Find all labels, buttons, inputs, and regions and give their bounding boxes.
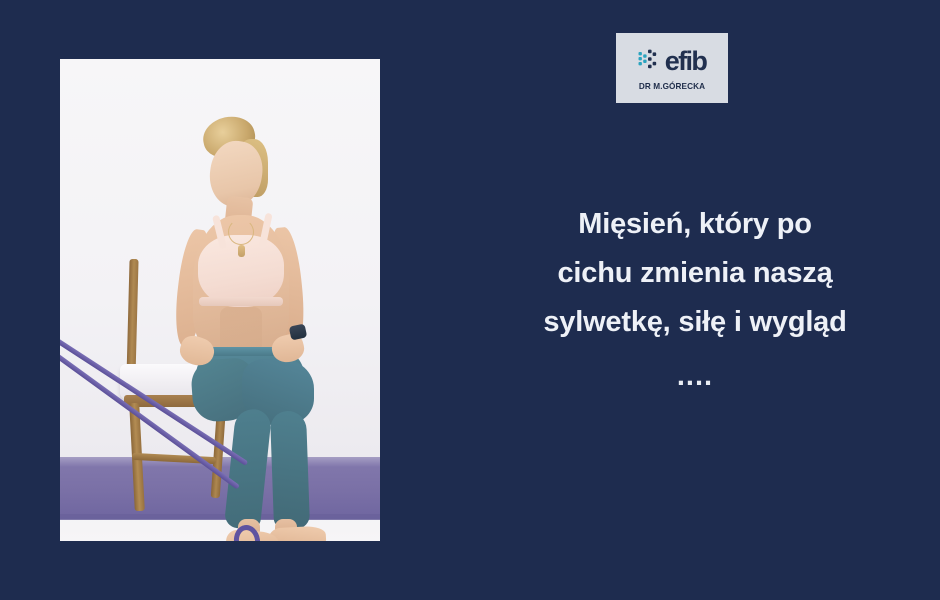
brand-subtitle: DR M.GÓRECKA <box>639 82 705 91</box>
headline-line-2: cichu zmienia naszą <box>470 249 920 298</box>
headline-line-3: sylwetkę, siłę i wygląd <box>470 298 920 347</box>
headline: Mięsień, który po cichu zmienia naszą sy… <box>470 200 920 347</box>
headline-line-1: Mięsień, który po <box>470 200 920 249</box>
brand-logo-card: efib DR M.GÓRECKA <box>616 33 728 103</box>
dotted-arrow-icon <box>638 46 664 77</box>
sports-bra-band <box>199 297 283 306</box>
brand-name: efib <box>665 48 707 75</box>
brand-logo-mark-row: efib <box>638 46 707 77</box>
headline-ellipsis: .... <box>470 360 920 393</box>
wristwatch <box>289 323 308 340</box>
post-canvas: efib DR M.GÓRECKA Mięsień, który po cich… <box>0 0 940 600</box>
right-shin <box>270 410 310 529</box>
necklace <box>228 219 254 245</box>
woman-figure <box>60 59 380 541</box>
left-shin <box>224 407 272 530</box>
necklace-pendant <box>238 245 245 257</box>
photo-scene <box>60 59 380 541</box>
exercise-photo <box>60 59 380 541</box>
